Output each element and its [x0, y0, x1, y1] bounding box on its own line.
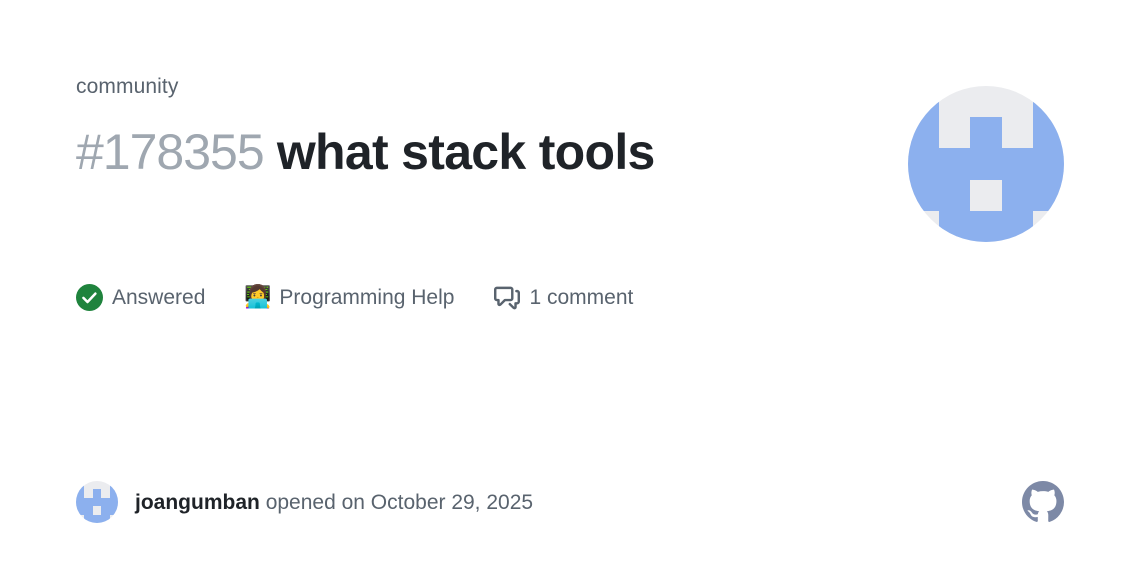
technologist-emoji: 👩‍💻 [245, 285, 270, 310]
identicon-cell-4-1 [84, 515, 92, 523]
identicon-cell-3-3 [101, 506, 109, 514]
identicon-cell-3-3 [1002, 180, 1033, 211]
identicon-cell-3-0 [76, 506, 84, 514]
issue-title-text: what stack tools [277, 124, 655, 180]
identicon-cell-3-4 [1033, 180, 1064, 211]
issue-preview-card: community #178355 what stack tools Answe… [0, 0, 1140, 570]
issue-number: #178355 [76, 124, 264, 180]
identicon-cell-1-4 [1033, 117, 1064, 148]
identicon-cell-3-2 [970, 180, 1001, 211]
identicon-cell-0-4 [110, 481, 118, 489]
identicon-cell-4-0 [908, 211, 939, 242]
identicon-cell-2-0 [908, 148, 939, 179]
identicon-avatar-small [76, 481, 118, 523]
identicon-cell-4-1 [939, 211, 970, 242]
header-row: community #178355 what stack tools [76, 0, 1064, 242]
identicon-cell-2-0 [76, 498, 84, 506]
identicon-cell-3-1 [84, 506, 92, 514]
byline-action: opened on October 29, 2025 [266, 491, 533, 514]
comment-count-badge: 1 comment [494, 285, 633, 311]
identicon-cell-0-3 [1002, 86, 1033, 117]
check-circle-icon [76, 284, 103, 311]
identicon-cell-3-0 [908, 180, 939, 211]
status-badge-label: Answered [112, 287, 205, 308]
identicon-cell-2-1 [84, 498, 92, 506]
identicon-cell-0-2 [970, 86, 1001, 117]
github-mark-icon [1022, 481, 1064, 523]
identicon-cell-1-4 [110, 489, 118, 497]
identicon-cell-0-2 [93, 481, 101, 489]
identicon-cell-1-0 [908, 117, 939, 148]
repository-label: community [76, 74, 655, 100]
identicon-cell-2-4 [1033, 148, 1064, 179]
category-badge: 👩‍💻 Programming Help [245, 285, 454, 310]
identicon-cell-2-2 [970, 148, 1001, 179]
identicon-cell-4-2 [93, 515, 101, 523]
author-name: joangumban [135, 491, 260, 514]
metadata-row: Answered 👩‍💻 Programming Help 1 comment [76, 284, 1064, 311]
comment-count-label: 1 comment [529, 287, 633, 308]
status-badge: Answered [76, 284, 205, 311]
identicon-avatar-large [908, 86, 1064, 242]
identicon-cell-2-2 [93, 498, 101, 506]
identicon-cell-1-1 [84, 489, 92, 497]
byline-text: joangumban opened on October 29, 2025 [135, 492, 533, 513]
identicon-cell-2-3 [1002, 148, 1033, 179]
footer-row: joangumban opened on October 29, 2025 [76, 481, 1064, 523]
identicon-cell-0-0 [908, 86, 939, 117]
identicon-cell-4-4 [1033, 211, 1064, 242]
identicon-cell-3-4 [110, 506, 118, 514]
identicon-cell-0-4 [1033, 86, 1064, 117]
identicon-cell-4-3 [1002, 211, 1033, 242]
category-badge-label: Programming Help [279, 287, 454, 308]
identicon-cell-3-1 [939, 180, 970, 211]
identicon-cell-0-0 [76, 481, 84, 489]
identicon-cell-4-2 [970, 211, 1001, 242]
identicon-cell-4-4 [110, 515, 118, 523]
identicon-cell-1-3 [1002, 117, 1033, 148]
identicon-cell-1-2 [970, 117, 1001, 148]
identicon-cell-4-0 [76, 515, 84, 523]
comment-discussion-icon [494, 285, 520, 311]
identicon-cell-1-3 [101, 489, 109, 497]
identicon-cell-0-1 [939, 86, 970, 117]
identicon-cell-2-1 [939, 148, 970, 179]
identicon-cell-4-3 [101, 515, 109, 523]
identicon-cell-3-2 [93, 506, 101, 514]
header-text-block: community #178355 what stack tools [76, 74, 655, 222]
identicon-cell-1-2 [93, 489, 101, 497]
identicon-cell-1-1 [939, 117, 970, 148]
author-byline: joangumban opened on October 29, 2025 [76, 481, 533, 523]
identicon-cell-2-3 [101, 498, 109, 506]
identicon-cell-2-4 [110, 498, 118, 506]
identicon-cell-0-1 [84, 481, 92, 489]
identicon-cell-1-0 [76, 489, 84, 497]
page-title: #178355 what stack tools [76, 117, 655, 188]
identicon-cell-0-3 [101, 481, 109, 489]
